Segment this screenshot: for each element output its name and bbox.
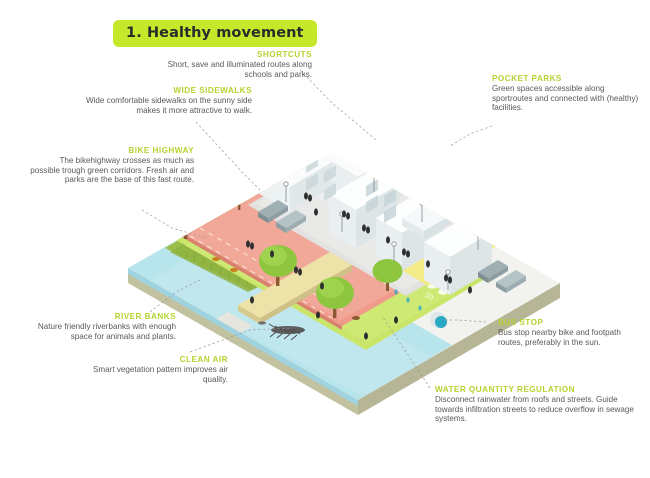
callout-shortcuts-body: Short, save and illuminated routes along…: [146, 60, 312, 79]
callout-bike-highway-body: The bikehighway crosses as much as possi…: [28, 156, 194, 185]
callout-bike-highway: BIKE HIGHWAY The bikehighway crosses as …: [28, 146, 194, 185]
callout-bike-highway-heading: BIKE HIGHWAY: [28, 146, 194, 155]
callout-wide-sidewalks: WIDE SIDEWALKS Wide comfortable sidewalk…: [76, 86, 252, 115]
leader-shortcuts: [300, 70, 376, 140]
callout-river-banks-body: Nature friendly riverbanks with enough s…: [24, 322, 176, 341]
leader-wide-sidewalks: [196, 122, 262, 192]
school-label: school: [401, 136, 426, 156]
infographic-canvas: 30: [0, 0, 650, 478]
callout-shortcuts-heading: SHORTCUTS: [146, 50, 312, 59]
callout-river-banks: RIVER BANKS Nature friendly riverbanks w…: [24, 312, 176, 341]
callout-pocket-parks: POCKET PARKS Green spaces accessible alo…: [492, 74, 640, 113]
callout-pocket-parks-body: Green spaces accessible along sportroute…: [492, 84, 640, 113]
leader-pocket-parks: [450, 126, 492, 146]
scene-surface: 30: [128, 90, 560, 400]
callout-water-quantity-regulation-heading: WATER QUANTITY REGULATION: [435, 385, 641, 394]
page-title-badge: 1. Healthy movement: [113, 20, 317, 47]
callout-bus-stop-body: Bus stop nearby bike and footpath routes…: [498, 328, 644, 347]
callout-clean-air: CLEAN AIR Smart vegetation pattern impro…: [82, 355, 228, 384]
callout-wide-sidewalks-heading: WIDE SIDEWALKS: [76, 86, 252, 95]
callout-water-quantity-regulation-body: Disconnect rainwater from roofs and stre…: [435, 395, 641, 424]
callout-wide-sidewalks-body: Wide comfortable sidewalks on the sunny …: [76, 96, 252, 115]
callout-bus-stop-heading: BUS STOP: [498, 318, 644, 327]
callout-river-banks-heading: RIVER BANKS: [24, 312, 176, 321]
callout-clean-air-body: Smart vegetation pattern improves air qu…: [82, 365, 228, 384]
callout-bus-stop: BUS STOP Bus stop nearby bike and footpa…: [498, 318, 644, 347]
callout-pocket-parks-heading: POCKET PARKS: [492, 74, 640, 83]
pocket-park: [392, 137, 468, 177]
callout-water-quantity-regulation: WATER QUANTITY REGULATION Disconnect rai…: [435, 385, 641, 424]
callout-shortcuts: SHORTCUTS Short, save and illuminated ro…: [146, 50, 312, 79]
callout-clean-air-heading: CLEAN AIR: [82, 355, 228, 364]
